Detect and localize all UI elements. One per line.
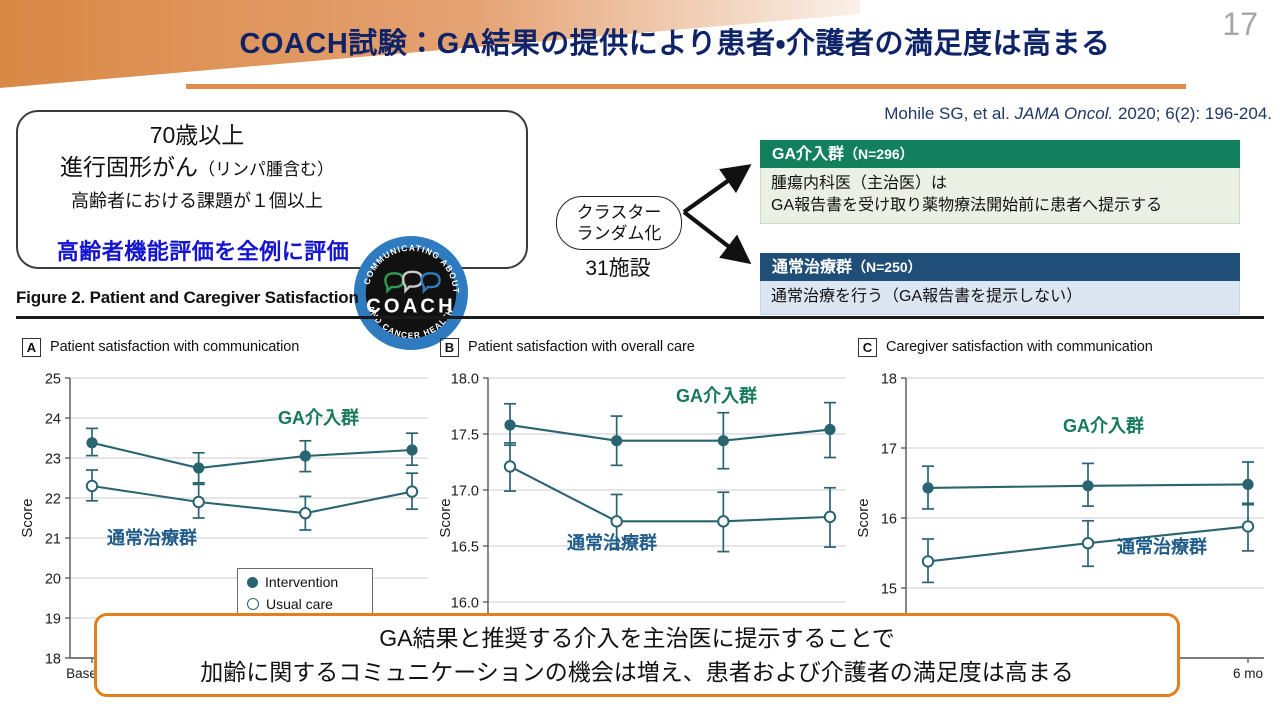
citation: Mohile SG, et al. JAMA Oncol. 2020; 6(2)… xyxy=(884,104,1272,124)
criteria-cancer-main: 進行固形がん xyxy=(60,154,198,180)
slide-number: 17 xyxy=(1222,6,1258,43)
filled-circle-icon xyxy=(247,577,258,588)
annotation-ga-panel-a: GA介入群 xyxy=(278,404,359,430)
uc-arm-header: 通常治療群（N=250） xyxy=(760,253,1240,281)
svg-text:Score: Score xyxy=(437,498,454,537)
coach-logo: COMMUNICATING ABOUT AGING AND CANCER HEA… xyxy=(352,234,470,352)
ga-arm-header: GA介入群（N=296） xyxy=(760,140,1240,168)
criteria-impairment: 高齢者における課題が１個以上 xyxy=(32,186,362,216)
svg-text:17.5: 17.5 xyxy=(451,428,479,444)
ga-arm-body-line2: GA報告書を受け取り薬物療法開始前に患者へ提示する xyxy=(771,195,1231,217)
panel-a-caption: Patient satisfaction with communication xyxy=(50,339,299,355)
slide-header: COACH試験：GA結果の提供により患者・介護者の満足度は高まる 17 xyxy=(0,0,1280,100)
annotation-uc-panel-a: 通常治療群 xyxy=(107,524,197,550)
svg-text:22: 22 xyxy=(45,492,61,508)
svg-text:18.0: 18.0 xyxy=(451,372,479,388)
svg-text:17: 17 xyxy=(881,442,897,458)
legend-item-usual-care: Usual care xyxy=(247,593,372,615)
randomization-line1: クラスター xyxy=(577,202,662,223)
uc-arm-body-line1: 通常治療を行う（GA報告書を提示しない） xyxy=(771,286,1231,308)
citation-journal: JAMA Oncol. xyxy=(1015,104,1114,123)
svg-text:16: 16 xyxy=(881,512,897,528)
annotation-ga-panel-c: GA介入群 xyxy=(1063,412,1144,438)
panel-b-caption: Patient satisfaction with overall care xyxy=(468,339,695,355)
conclusion-line2: 加齢に関するコミュニケーションの機会は増え、患者および介護者の満足度は高まる xyxy=(200,655,1074,689)
annotation-uc-panel-b: 通常治療群 xyxy=(567,529,657,555)
usual-care-arm: 通常治療群（N=250） 通常治療を行う（GA報告書を提示しない） xyxy=(760,253,1240,315)
uc-arm-n: （N=250） xyxy=(852,259,922,275)
svg-text:25: 25 xyxy=(45,372,61,388)
svg-text:21: 21 xyxy=(45,532,61,548)
conclusion-callout: GA結果と推奨する介入を主治医に提示することで 加齢に関するコミュニケーションの… xyxy=(94,613,1180,697)
panel-a-letter: A xyxy=(22,338,41,357)
page-title: COACH試験：GA結果の提供により患者・介護者の満足度は高まる xyxy=(150,20,1200,68)
panel-c-letter: C xyxy=(858,338,877,357)
panel-c-caption: Caregiver satisfaction with communicatio… xyxy=(886,339,1153,355)
ga-arm-n: （N=296） xyxy=(844,146,914,162)
figure-divider xyxy=(16,316,1264,319)
header-rule xyxy=(186,84,1186,89)
svg-text:23: 23 xyxy=(45,452,61,468)
ga-arm-body-line1: 腫瘍内科医（主治医）は xyxy=(771,173,1231,195)
svg-text:24: 24 xyxy=(45,412,61,428)
criteria-cancer-sub: （リンパ腫含む） xyxy=(198,160,334,179)
svg-text:18: 18 xyxy=(45,652,61,668)
svg-text:16.5: 16.5 xyxy=(451,540,479,556)
svg-text:15: 15 xyxy=(881,582,897,598)
legend-item-intervention: Intervention xyxy=(247,571,372,593)
citation-authors: Mohile SG, et al. xyxy=(884,104,1010,123)
randomization-bubble: クラスター ランダム化 xyxy=(556,196,682,250)
svg-text:Score: Score xyxy=(855,498,872,537)
ga-intervention-arm: GA介入群（N=296） 腫瘍内科医（主治医）は GA報告書を受け取り薬物療法開… xyxy=(760,140,1240,224)
open-circle-icon xyxy=(247,598,259,610)
legend-label-intervention: Intervention xyxy=(265,574,338,590)
criteria-text-group: 70歳以上 進行固形がん（リンパ腫含む） 高齢者における課題が１個以上 xyxy=(32,120,362,216)
svg-text:Score: Score xyxy=(19,498,36,537)
criteria-age: 70歳以上 xyxy=(32,120,362,151)
panel-b-header: B Patient satisfaction with overall care xyxy=(440,336,854,358)
figure-title: Figure 2. Patient and Caregiver Satisfac… xyxy=(16,288,359,308)
svg-text:19: 19 xyxy=(45,612,61,628)
svg-text:20: 20 xyxy=(45,572,61,588)
annotation-uc-panel-c: 通常治療群 xyxy=(1117,533,1207,559)
chart-legend: Intervention Usual care xyxy=(237,568,373,618)
citation-detail: 2020; 6(2): 196-204. xyxy=(1118,104,1272,123)
eligibility-criteria-box: 70歳以上 進行固形がん（リンパ腫含む） 高齢者における課題が１個以上 高齢者機… xyxy=(16,110,528,269)
legend-label-usual-care: Usual care xyxy=(266,596,333,612)
criteria-emphasis: 高齢者機能評価を全例に評価 xyxy=(28,234,378,266)
randomization-sites: 31施設 xyxy=(556,252,680,282)
svg-text:16.0: 16.0 xyxy=(451,596,479,612)
uc-arm-body: 通常治療を行う（GA報告書を提示しない） xyxy=(760,281,1240,315)
randomization-arrows xyxy=(680,140,760,280)
svg-text:6 mo: 6 mo xyxy=(1233,666,1263,681)
panel-a-header: A Patient satisfaction with communicatio… xyxy=(22,336,436,358)
uc-arm-title: 通常治療群 xyxy=(772,259,852,276)
randomization-line2: ランダム化 xyxy=(577,223,662,244)
annotation-ga-panel-b: GA介入群 xyxy=(676,382,757,408)
panel-c-header: C Caregiver satisfaction with communicat… xyxy=(858,336,1272,358)
svg-text:18: 18 xyxy=(881,372,897,388)
svg-text:17.0: 17.0 xyxy=(451,484,479,500)
ga-arm-title: GA介入群 xyxy=(772,146,844,163)
ga-arm-body: 腫瘍内科医（主治医）は GA報告書を受け取り薬物療法開始前に患者へ提示する xyxy=(760,168,1240,224)
criteria-cancer-type: 進行固形がん（リンパ腫含む） xyxy=(32,151,362,186)
conclusion-line1: GA結果と推奨する介入を主治医に提示することで xyxy=(379,621,895,655)
panel-b-letter: B xyxy=(440,338,459,357)
svg-text:COACH: COACH xyxy=(366,296,456,318)
